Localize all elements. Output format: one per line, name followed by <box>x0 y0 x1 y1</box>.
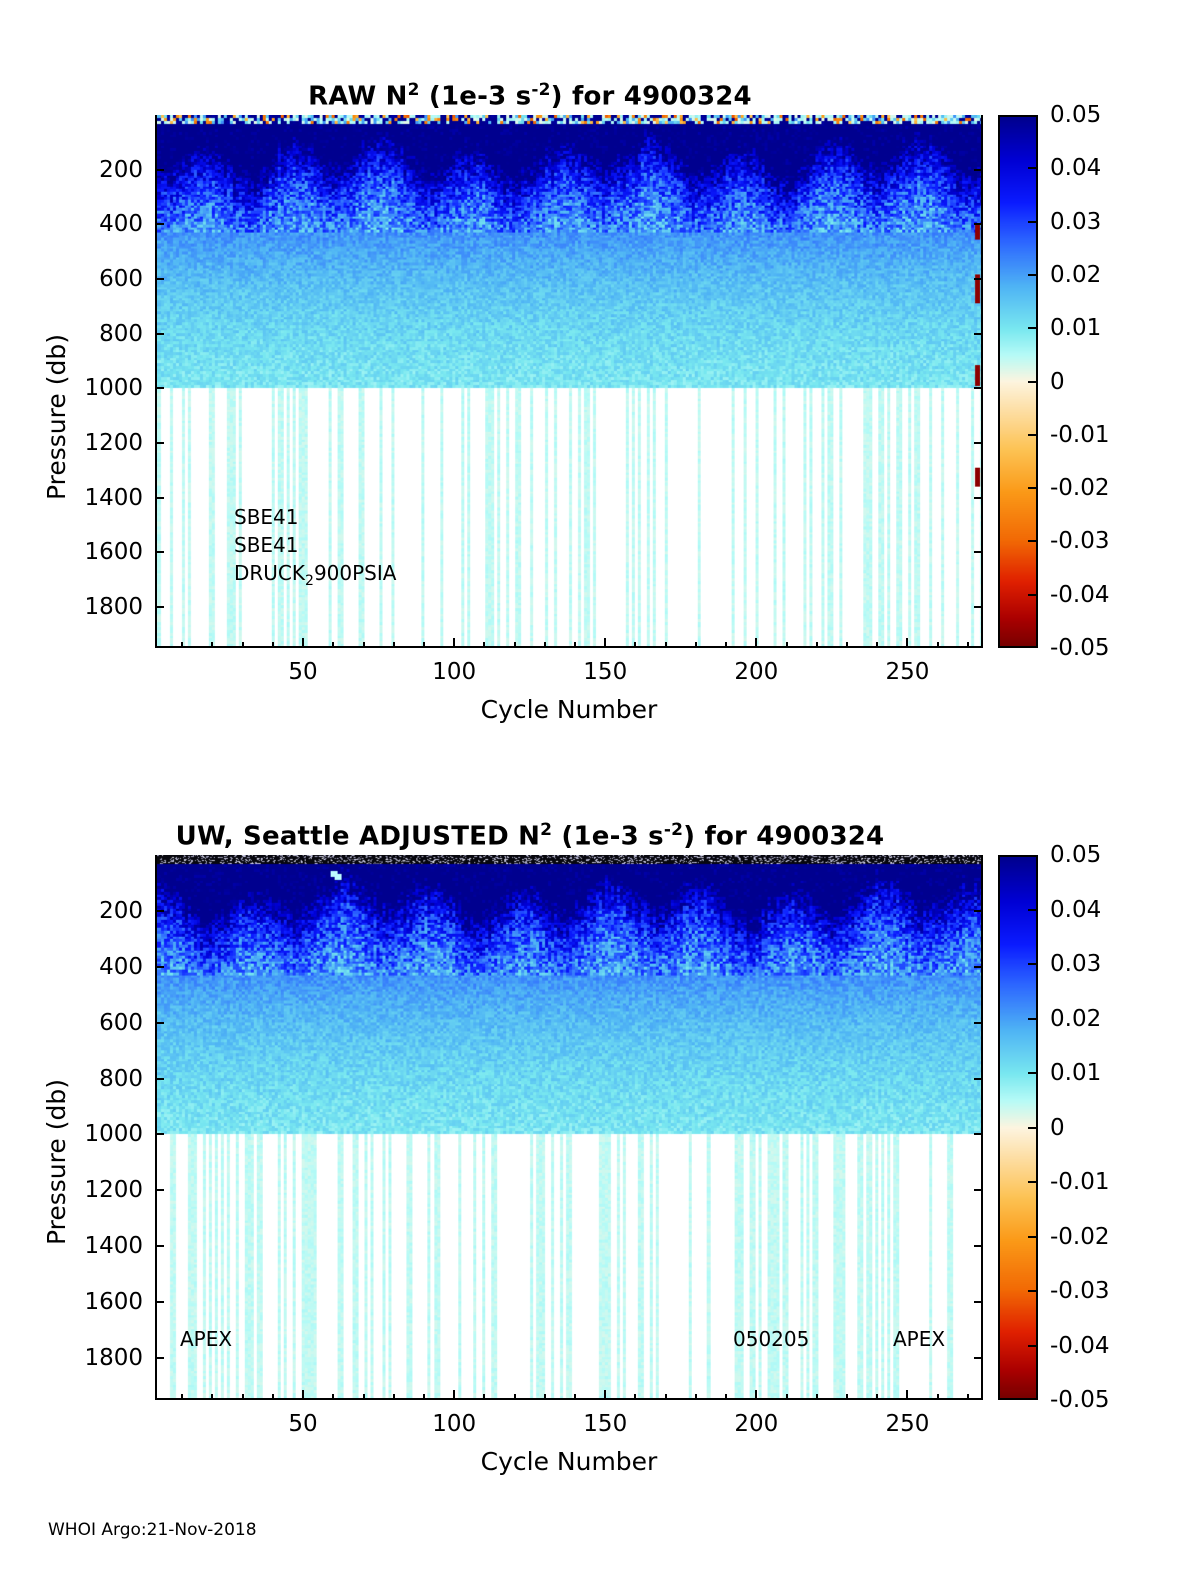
x-axis-tick-mark <box>604 1390 606 1400</box>
colorbar-tick-mark <box>1028 1127 1037 1129</box>
colorbar-tick-mark <box>1028 1236 1037 1238</box>
colorbar-tick-label: 0.02 <box>1050 1006 1101 1032</box>
x-axis-minor-tick <box>393 1394 395 1400</box>
x-axis-minor-tick <box>544 1394 546 1400</box>
x-axis-minor-tick <box>846 1394 848 1400</box>
x-axis-minor-tick <box>725 642 727 648</box>
x-axis-minor-tick <box>272 1394 274 1400</box>
y-axis-tick-mark <box>155 606 164 608</box>
x-axis-tick-label: 200 <box>734 659 778 685</box>
y-axis-tick-mark <box>155 966 164 968</box>
y-axis-tick-mark <box>155 333 164 335</box>
adj-title-main: UW, Seattle ADJUSTED N <box>176 822 540 852</box>
colorbar-tick-label: 0.01 <box>1050 1060 1101 1086</box>
x-axis-minor-tick <box>695 642 697 648</box>
colorbar-tick-label: -0.04 <box>1050 1333 1110 1359</box>
colorbar-tick-label: 0.04 <box>1050 155 1101 181</box>
adjusted-annotation-2: 050205 <box>733 1327 809 1351</box>
adj-title-mid: (1e-3 s <box>552 822 664 852</box>
x-axis-minor-tick <box>332 642 334 648</box>
x-axis-minor-tick <box>816 642 818 648</box>
adj-title-end: ) for 4900324 <box>683 822 884 852</box>
y-axis-tick-label: 800 <box>0 1066 143 1092</box>
adjusted-axes[interactable] <box>155 855 983 1400</box>
colorbar-tick-label: -0.02 <box>1050 1224 1110 1250</box>
y-axis-tick-label: 1800 <box>0 594 143 620</box>
x-axis-tick-label: 200 <box>734 1411 778 1437</box>
x-axis-minor-tick <box>574 642 576 648</box>
x-axis-minor-tick <box>423 1394 425 1400</box>
raw-annotation-3-pre: DRUCK <box>234 561 305 585</box>
y-axis-tick-mark <box>155 442 164 444</box>
colorbar-tick-label: -0.02 <box>1050 475 1110 501</box>
x-axis-tick-label: 150 <box>583 1411 627 1437</box>
axes-right-spine <box>981 855 983 1400</box>
colorbar-tick-mark <box>1028 327 1037 329</box>
raw-annotation-3: DRUCK2900PSIA <box>234 561 396 589</box>
x-axis-tick-label: 50 <box>288 1411 317 1437</box>
colorbar-tick-label: 0.03 <box>1050 209 1101 235</box>
x-axis-minor-tick <box>544 642 546 648</box>
y-axis-tick-mark <box>155 223 164 225</box>
x-axis-minor-tick <box>332 1394 334 1400</box>
y-axis-tick-label: 400 <box>0 954 143 980</box>
axes-right-spine <box>981 115 983 648</box>
x-axis-minor-tick <box>181 1394 183 1400</box>
x-axis-minor-tick <box>937 1394 939 1400</box>
x-axis-minor-tick <box>665 1394 667 1400</box>
colorbar-tick-label: -0.03 <box>1050 1278 1110 1304</box>
colorbar-tick-mark <box>1028 274 1037 276</box>
x-axis-minor-tick <box>181 642 183 648</box>
colorbar-tick-label: 0 <box>1050 369 1065 395</box>
x-axis-tick-label: 100 <box>432 1411 476 1437</box>
y-axis-tick-label: 1600 <box>0 539 143 565</box>
x-axis-tick-mark <box>604 638 606 648</box>
x-axis-minor-tick <box>272 642 274 648</box>
adjusted-x-axis-label: Cycle Number <box>155 1447 983 1476</box>
colorbar-tick-label: 0 <box>1050 1115 1065 1141</box>
colorbar-tick-label: 0.02 <box>1050 262 1101 288</box>
y-axis-tick-mark <box>155 1301 164 1303</box>
y-axis-tick-label: 1800 <box>0 1345 143 1371</box>
y-axis-tick-label: 1200 <box>0 1177 143 1203</box>
x-axis-minor-tick <box>363 1394 365 1400</box>
y-axis-tick-label: 1400 <box>0 485 143 511</box>
x-axis-tick-mark <box>453 1390 455 1400</box>
x-axis-tick-label: 250 <box>885 1411 929 1437</box>
y-axis-tick-label: 600 <box>0 1010 143 1036</box>
x-axis-minor-tick <box>242 1394 244 1400</box>
x-axis-minor-tick <box>363 642 365 648</box>
y-axis-tick-label: 1400 <box>0 1233 143 1259</box>
colorbar-tick-mark <box>1028 540 1037 542</box>
colorbar-tick-mark <box>1028 221 1037 223</box>
y-axis-tick-mark <box>155 1078 164 1080</box>
x-axis-tick-mark <box>755 1390 757 1400</box>
y-axis-tick-label: 1000 <box>0 1121 143 1147</box>
raw-x-axis-label: Cycle Number <box>155 695 983 724</box>
raw-title-end: ) for 4900324 <box>551 82 752 112</box>
y-axis-tick-label: 200 <box>0 157 143 183</box>
x-axis-minor-tick <box>937 642 939 648</box>
x-axis-minor-tick <box>725 1394 727 1400</box>
adj-title-sup1: 2 <box>540 820 552 840</box>
colorbar-tick-label: -0.05 <box>1050 635 1110 661</box>
colorbar-tick-label: -0.01 <box>1050 1169 1110 1195</box>
adjusted-plot-title: UW, Seattle ADJUSTED N2 (1e-3 s-2) for 4… <box>0 820 1060 852</box>
x-axis-minor-tick <box>514 642 516 648</box>
raw-title-main: RAW N <box>308 82 407 112</box>
x-axis-tick-mark <box>302 638 304 648</box>
raw-title-mid: (1e-3 s <box>420 82 532 112</box>
colorbar-tick-mark <box>1028 487 1037 489</box>
x-axis-tick-label: 100 <box>432 659 476 685</box>
colorbar-tick-mark <box>1028 1072 1037 1074</box>
adj-title-sup2: -2 <box>664 820 683 840</box>
x-axis-minor-tick <box>634 1394 636 1400</box>
x-axis-tick-mark <box>755 638 757 648</box>
x-axis-minor-tick <box>211 1394 213 1400</box>
x-axis-minor-tick <box>665 642 667 648</box>
x-axis-minor-tick <box>786 642 788 648</box>
x-axis-minor-tick <box>211 642 213 648</box>
y-axis-tick-label: 600 <box>0 266 143 292</box>
colorbar-tick-label: 0.04 <box>1050 897 1101 923</box>
x-axis-tick-mark <box>906 1390 908 1400</box>
x-axis-minor-tick <box>876 642 878 648</box>
y-axis-tick-mark <box>155 1133 164 1135</box>
y-axis-tick-label: 400 <box>0 211 143 237</box>
colorbar-tick-mark <box>1028 434 1037 436</box>
y-axis-tick-mark <box>155 387 164 389</box>
x-axis-tick-mark <box>453 638 455 648</box>
colorbar-tick-mark <box>1028 381 1037 383</box>
x-axis-minor-tick <box>876 1394 878 1400</box>
x-axis-minor-tick <box>514 1394 516 1400</box>
x-axis-minor-tick <box>695 1394 697 1400</box>
colorbar-tick-mark <box>1028 167 1037 169</box>
y-axis-tick-mark <box>155 169 164 171</box>
x-axis-tick-label: 250 <box>885 659 929 685</box>
x-axis-tick-mark <box>302 1390 304 1400</box>
figure-footer: WHOI Argo:21-Nov-2018 <box>48 1520 257 1540</box>
y-axis-tick-mark <box>155 1189 164 1191</box>
colorbar-tick-label: 0.05 <box>1050 102 1101 128</box>
x-axis-minor-tick <box>846 642 848 648</box>
y-axis-tick-mark <box>155 1245 164 1247</box>
x-axis-minor-tick <box>634 642 636 648</box>
colorbar-tick-label: -0.04 <box>1050 582 1110 608</box>
raw-annotation-1: SBE41 <box>234 505 299 529</box>
y-axis-tick-mark <box>155 497 164 499</box>
x-axis-minor-tick <box>786 1394 788 1400</box>
adjusted-annotation-3: APEX <box>893 1327 945 1351</box>
y-axis-tick-label: 1200 <box>0 430 143 456</box>
colorbar-tick-mark <box>1028 1290 1037 1292</box>
y-axis-tick-label: 1600 <box>0 1289 143 1315</box>
colorbar-tick-mark <box>1028 909 1037 911</box>
y-axis-tick-label: 200 <box>0 898 143 924</box>
y-axis-tick-mark <box>155 278 164 280</box>
x-axis-minor-tick <box>242 642 244 648</box>
y-axis-tick-mark <box>155 1357 164 1359</box>
adjusted-annotation-1: APEX <box>180 1327 232 1351</box>
colorbar-tick-label: -0.01 <box>1050 422 1110 448</box>
y-axis-tick-mark <box>155 1022 164 1024</box>
colorbar-tick-label: -0.03 <box>1050 528 1110 554</box>
x-axis-minor-tick <box>816 1394 818 1400</box>
y-axis-tick-label: 1000 <box>0 375 143 401</box>
adjusted-heatmap <box>157 855 983 1398</box>
x-axis-minor-tick <box>967 642 969 648</box>
raw-title-sup1: 2 <box>408 80 420 100</box>
colorbar-tick-label: 0.05 <box>1050 842 1101 868</box>
colorbar-tick-label: 0.03 <box>1050 951 1101 977</box>
x-axis-minor-tick <box>393 642 395 648</box>
y-axis-tick-mark <box>155 551 164 553</box>
colorbar-tick-label: -0.05 <box>1050 1387 1110 1413</box>
x-axis-tick-label: 50 <box>288 659 317 685</box>
raw-plot-title: RAW N2 (1e-3 s-2) for 4900324 <box>0 80 1060 112</box>
x-axis-minor-tick <box>574 1394 576 1400</box>
raw-y-axis-label: Pressure (db) <box>42 334 71 500</box>
raw-annotation-3-post: 900PSIA <box>314 561 397 585</box>
x-axis-tick-label: 150 <box>583 659 627 685</box>
y-axis-tick-mark <box>155 910 164 912</box>
colorbar-tick-label: 0.01 <box>1050 315 1101 341</box>
colorbar-tick-mark <box>1028 963 1037 965</box>
raw-title-sup2: -2 <box>531 80 550 100</box>
x-axis-tick-mark <box>906 638 908 648</box>
colorbar-tick-mark <box>1028 594 1037 596</box>
colorbar-tick-mark <box>1028 1018 1037 1020</box>
colorbar-tick-mark <box>1028 1181 1037 1183</box>
colorbar-tick-mark <box>1028 1345 1037 1347</box>
y-axis-tick-label: 800 <box>0 321 143 347</box>
x-axis-minor-tick <box>423 642 425 648</box>
raw-annotation-2: SBE41 <box>234 533 299 557</box>
adjusted-y-axis-label: Pressure (db) <box>42 1079 71 1245</box>
x-axis-minor-tick <box>967 1394 969 1400</box>
raw-annotation-3-sub: 2 <box>305 573 314 589</box>
x-axis-minor-tick <box>483 642 485 648</box>
x-axis-minor-tick <box>483 1394 485 1400</box>
